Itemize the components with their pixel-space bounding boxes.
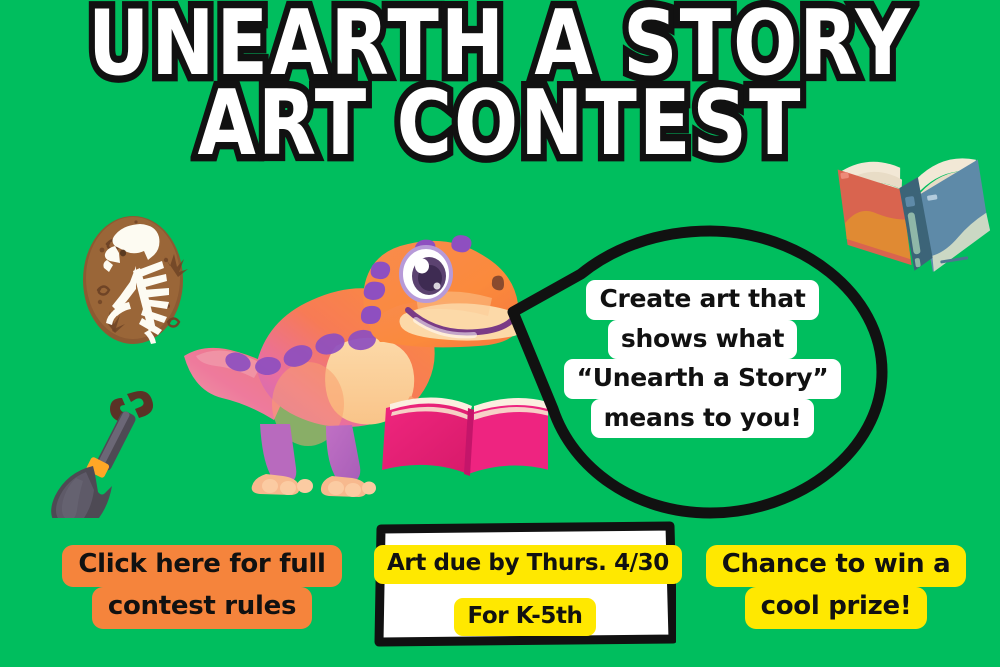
bubble-line-4: means to you! xyxy=(591,399,815,439)
title-line-1: Unearth a Story xyxy=(0,2,1000,85)
prize-note: Chance to win a cool prize! xyxy=(700,545,972,629)
fossil-egg-icon xyxy=(74,198,192,346)
bubble-line-3: “Unearth a Story” xyxy=(564,359,842,399)
dinosaur-trex-reading-icon xyxy=(178,228,548,518)
prize-line-2: cool prize! xyxy=(745,587,928,629)
rules-line-1: Click here for full xyxy=(62,545,341,587)
speech-bubble: Create art that shows what “Unearth a St… xyxy=(505,222,900,522)
bubble-line-2: shows what xyxy=(608,320,797,360)
speech-bubble-text: Create art that shows what “Unearth a St… xyxy=(500,280,905,438)
contest-rules-button[interactable]: Click here for full contest rules xyxy=(52,545,352,629)
bubble-line-1: Create art that xyxy=(586,280,818,320)
due-line-2: For K-5th xyxy=(454,598,595,637)
poster-canvas: Create art that shows what “Unearth a St… xyxy=(0,0,1000,667)
shovel-icon xyxy=(48,382,168,518)
due-date-text: Art due by Thurs. 4/30 For K-5th xyxy=(374,545,676,636)
due-line-1: Art due by Thurs. 4/30 xyxy=(374,545,682,584)
rules-line-2: contest rules xyxy=(92,587,312,629)
prize-line-1: Chance to win a xyxy=(706,545,967,587)
due-date-box: Art due by Thurs. 4/30 For K-5th xyxy=(374,521,676,647)
